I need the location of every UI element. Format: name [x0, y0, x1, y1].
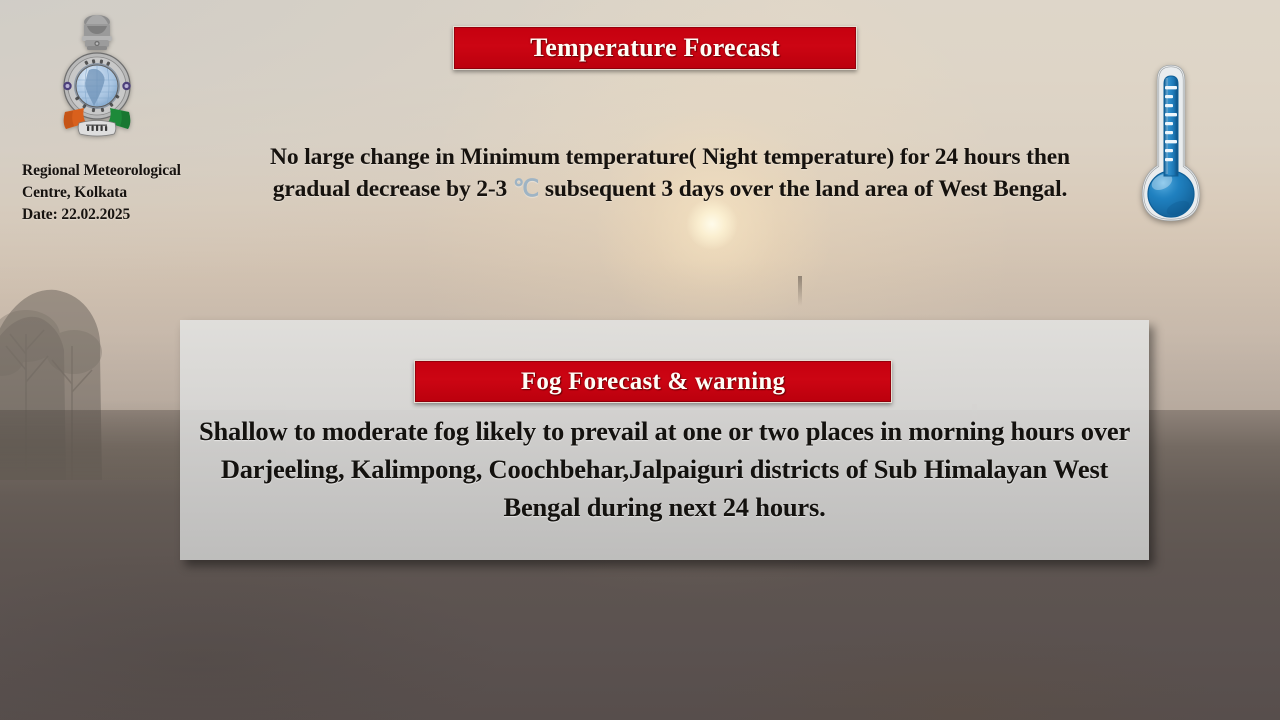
degree-celsius-symbol: ℃ [513, 176, 539, 202]
fog-forecast-text: Shallow to moderate fog likely to prevai… [194, 412, 1135, 526]
temperature-forecast-text: No large change in Minimum temperature( … [246, 142, 1094, 206]
fog-forecast-banner: Fog Forecast & warning [414, 360, 892, 403]
organisation-identity-block: Regional Meteorological Centre, Kolkata … [22, 160, 248, 226]
fog-text-line-1: Shallow to moderate fog likely to prevai… [199, 416, 902, 446]
temperature-forecast-banner: Temperature Forecast [453, 26, 857, 70]
organisation-name-line-2: Centre, Kolkata [22, 182, 248, 204]
thermometer-icon [1131, 62, 1211, 242]
fog-forecast-title: Fog Forecast & warning [521, 368, 785, 396]
bulletin-date: Date: 22.02.2025 [22, 204, 248, 226]
temperature-text-part-2: subsequent 3 days over the land area of … [539, 176, 1067, 202]
temperature-forecast-title: Temperature Forecast [530, 33, 780, 63]
forecast-bulletin-slide: Regional Meteorological Centre, Kolkata … [0, 0, 1280, 720]
organisation-name-line-1: Regional Meteorological [22, 160, 248, 182]
fog-forecast-panel: Shallow to moderate fog likely to prevai… [180, 320, 1149, 560]
background-distant-post [798, 276, 802, 306]
imd-emblem-icon [56, 12, 138, 152]
